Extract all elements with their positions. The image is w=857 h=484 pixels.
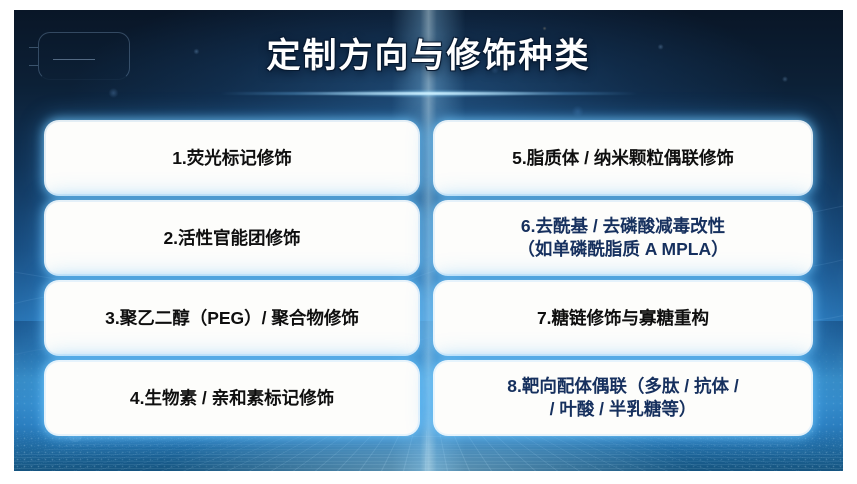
card-item-4[interactable]: 4.生物素 / 亲和素标记修饰	[46, 362, 418, 434]
card-grid: 1.荧光标记修饰 2.活性官能团修饰 3.聚乙二醇（PEG）/ 聚合物修饰 4.…	[14, 10, 843, 471]
card-label: 5.脂质体 / 纳米颗粒偶联修饰	[512, 147, 734, 170]
card-label: 1.荧光标记修饰	[172, 147, 292, 170]
card-label: 2.活性官能团修饰	[163, 227, 300, 250]
card-item-8[interactable]: 8.靶向配体偶联（多肽 / 抗体 / / 叶酸 / 半乳糖等）	[435, 362, 811, 434]
slide-canvas: 定制方向与修饰种类 1.荧光标记修饰 2.活性官能团修饰 3.聚乙二醇（PEG）…	[14, 10, 843, 471]
card-label: 6.去酰基 / 去磷酸减毒改性 （如单磷酰脂质 A MPLA）	[517, 215, 728, 261]
card-label: 8.靶向配体偶联（多肽 / 抗体 / / 叶酸 / 半乳糖等）	[507, 375, 738, 421]
card-label: 3.聚乙二醇（PEG）/ 聚合物修饰	[105, 307, 359, 330]
card-item-5[interactable]: 5.脂质体 / 纳米颗粒偶联修饰	[435, 122, 811, 194]
card-label: 4.生物素 / 亲和素标记修饰	[130, 387, 334, 410]
card-item-2[interactable]: 2.活性官能团修饰	[46, 202, 418, 274]
card-item-3[interactable]: 3.聚乙二醇（PEG）/ 聚合物修饰	[46, 282, 418, 354]
card-item-1[interactable]: 1.荧光标记修饰	[46, 122, 418, 194]
card-item-6[interactable]: 6.去酰基 / 去磷酸减毒改性 （如单磷酰脂质 A MPLA）	[435, 202, 811, 274]
card-item-7[interactable]: 7.糖链修饰与寡糖重构	[435, 282, 811, 354]
card-label: 7.糖链修饰与寡糖重构	[537, 307, 709, 330]
